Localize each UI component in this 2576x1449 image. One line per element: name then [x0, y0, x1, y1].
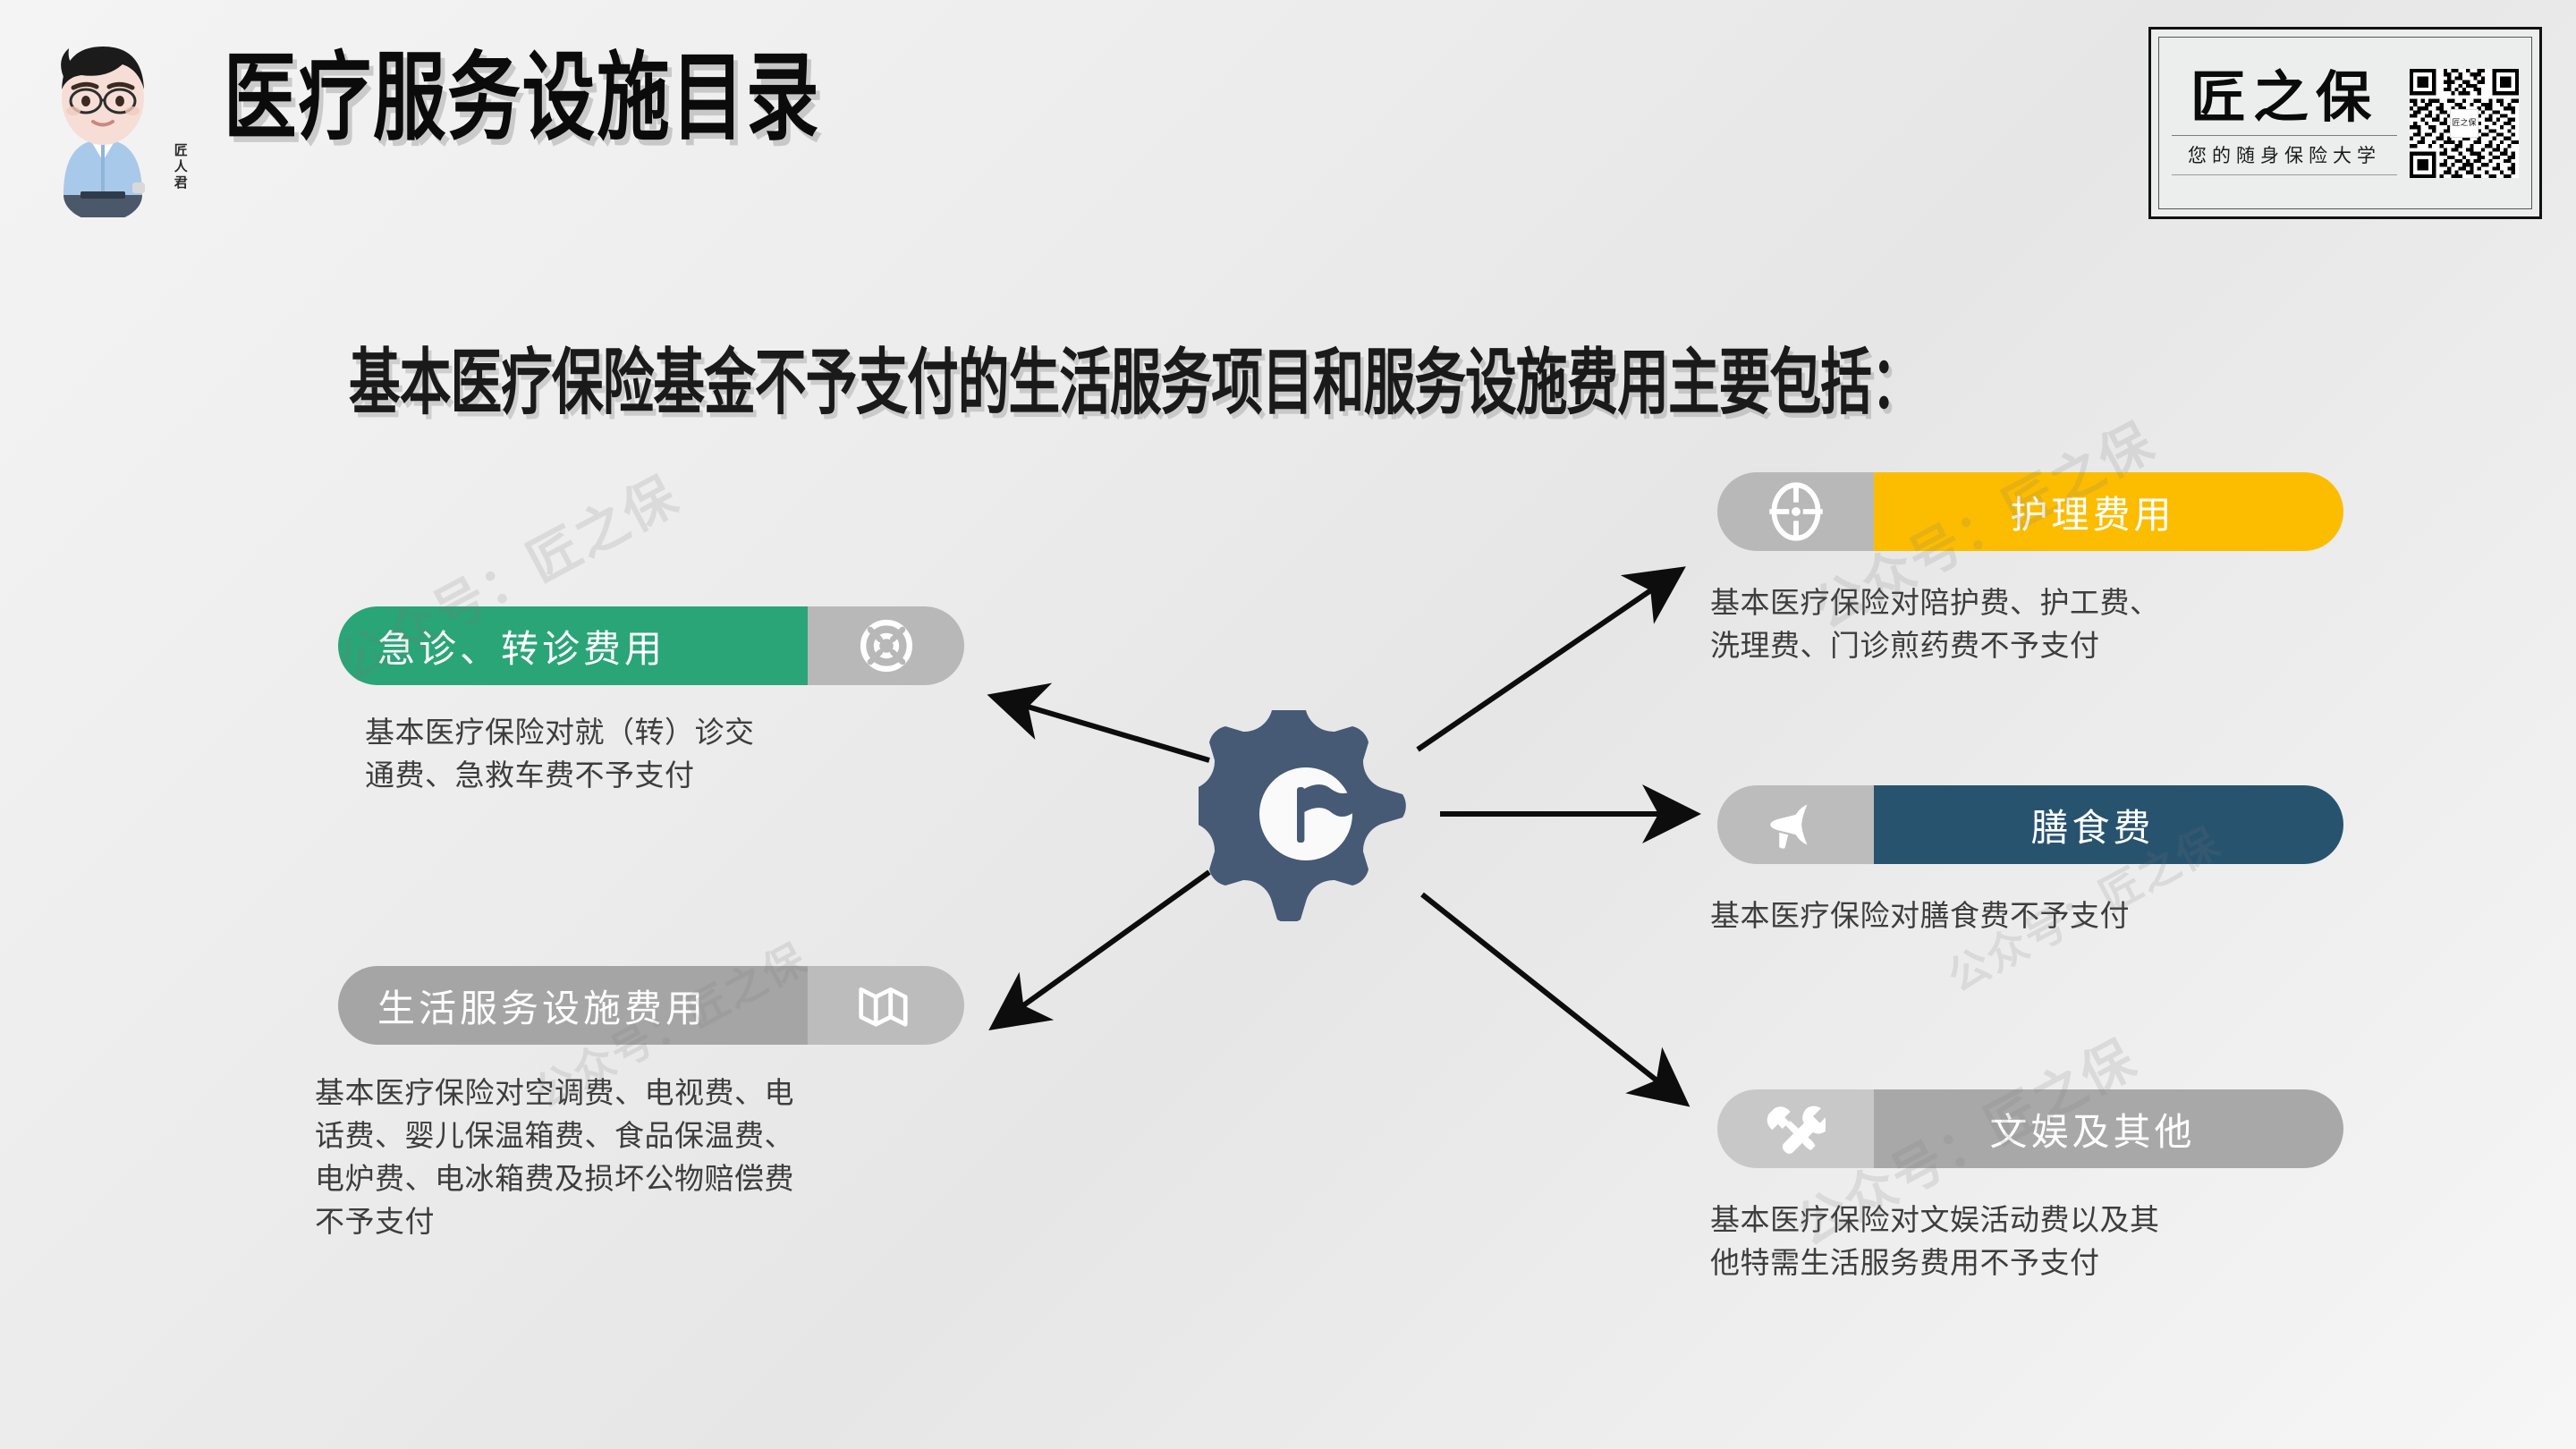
card-label-meal-fee: 膳食费 [1874, 785, 2343, 864]
card-label-nursing-fee: 护理费用 [1874, 472, 2343, 551]
card-emergency-transfer[interactable]: 急诊、转诊费用 [338, 606, 964, 685]
arrow-to-nursing [1418, 572, 1677, 750]
gear-hub [1199, 707, 1413, 921]
arrow-to-emergency [997, 698, 1209, 760]
card-nursing-fee[interactable]: 护理费用 [1717, 472, 2343, 551]
arrow-to-entertainment [1422, 894, 1682, 1100]
qr-center-logo: 匠之保 [2450, 109, 2479, 138]
tools-icon [1717, 1089, 1874, 1168]
card-label-living-facility: 生活服务设施费用 [338, 966, 808, 1045]
card-desc-entertainment-other: 基本医疗保险对文娱活动费以及其 他特需生活服务费用不予支付 [1710, 1199, 2354, 1284]
arrow-to-living-facility [997, 872, 1209, 1024]
brand-card: 匠之保 您的随身保险大学 [2148, 27, 2542, 219]
crosshair-icon [1717, 472, 1874, 551]
slide-canvas: 匠人君 医疗服务设施目录 匠之保 您的随身保险大学 [0, 0, 2576, 1449]
card-desc-living-facility: 基本医疗保险对空调费、电视费、电 话费、婴儿保温箱费、食品保温费、 电炉费、电冰… [315, 1072, 977, 1242]
avatar-signature: 匠人君 [172, 143, 186, 191]
card-meal-fee[interactable]: 膳食费 [1717, 785, 2343, 864]
card-label-emergency-transfer: 急诊、转诊费用 [338, 606, 808, 685]
card-desc-nursing-fee: 基本医疗保险对陪护费、护工费、 洗理费、门诊煎药费不予支付 [1710, 581, 2354, 667]
lifebuoy-icon [808, 606, 964, 685]
avatar [27, 16, 179, 217]
map-icon [808, 966, 964, 1045]
card-desc-meal-fee: 基本医疗保险对膳食费不予支付 [1710, 894, 2354, 937]
brand-name: 匠之保 [2190, 71, 2378, 126]
card-living-facility[interactable]: 生活服务设施费用 [338, 966, 964, 1045]
page-title: 医疗服务设施目录 [224, 49, 820, 146]
card-desc-emergency-transfer: 基本医疗保险对就（转）诊交 通费、急救车费不予支付 [365, 711, 955, 797]
megaphone-icon [1717, 785, 1874, 864]
brand-tagline: 您的随身保险大学 [2188, 141, 2381, 168]
brand-divider-top [2172, 135, 2397, 136]
brand-card-inner: 匠之保 您的随身保险大学 [2158, 37, 2532, 209]
qr-code[interactable]: 匠之保 [2410, 69, 2519, 178]
headline: 基本医疗保险基金不予支付的生活服务项目和服务设施费用主要包括： [349, 324, 1922, 428]
brand-divider-bottom [2172, 174, 2397, 175]
card-entertainment-other[interactable]: 文娱及其他 [1717, 1089, 2343, 1168]
brand-text-block: 匠之保 您的随身保险大学 [2172, 71, 2397, 175]
card-label-entertainment-other: 文娱及其他 [1874, 1089, 2343, 1168]
